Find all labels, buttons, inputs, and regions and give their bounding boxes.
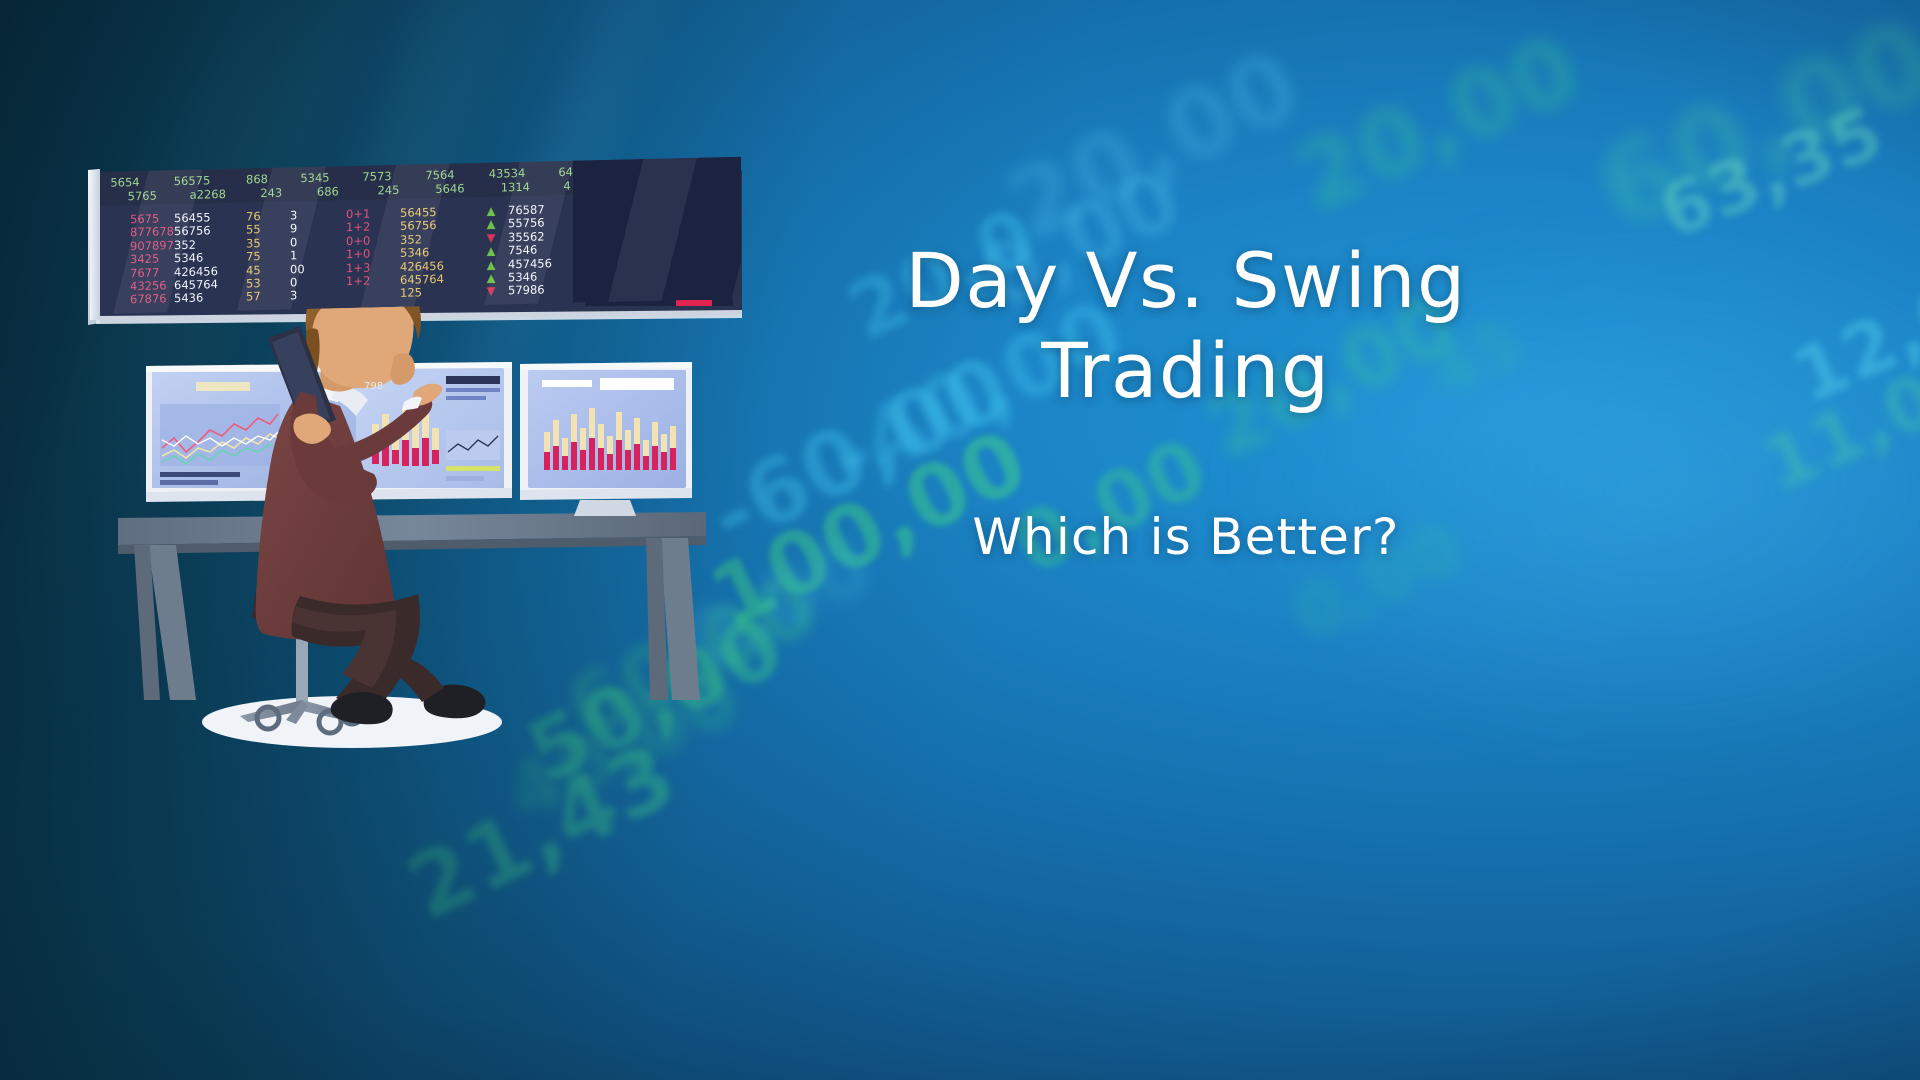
headline-line-2: Trading <box>806 326 1566 416</box>
page-subtitle: Which is Better? <box>806 508 1566 566</box>
right-monitor <box>520 362 692 516</box>
banner-canvas: 20,0020,0060,0063,350,0020,012,011,0-40,… <box>0 0 1920 1080</box>
wall-ticker-board: 5654565758685345757375644353464565464445… <box>96 157 741 314</box>
monitor-value-label: 798 <box>364 381 383 392</box>
page-title: Day Vs. Swing Trading <box>806 236 1566 415</box>
board-left-edge <box>90 170 100 320</box>
board-glass-sheen <box>96 157 741 314</box>
headline-line-1: Day Vs. Swing <box>905 236 1467 325</box>
